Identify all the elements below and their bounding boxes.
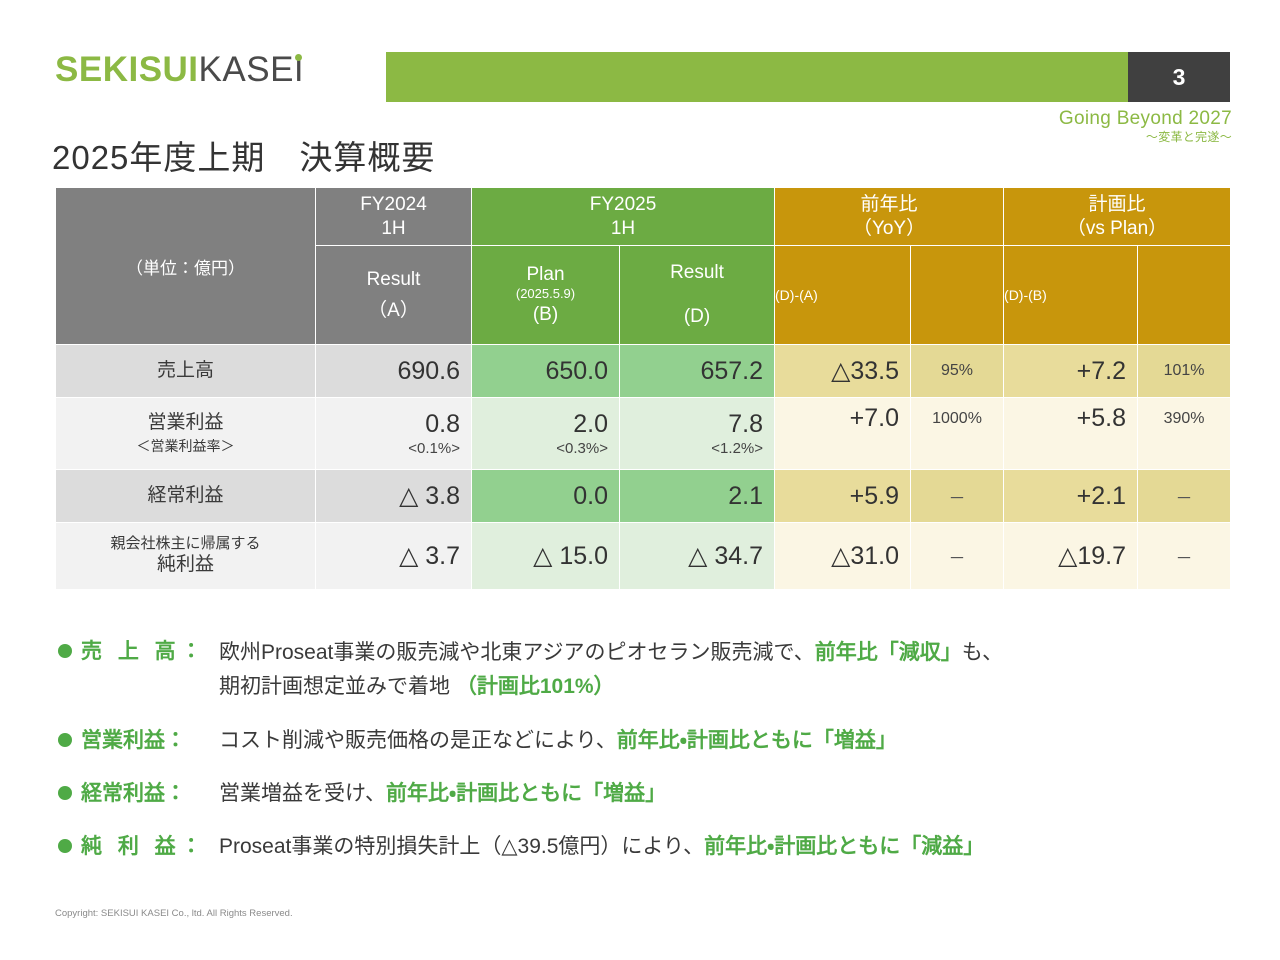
- cell-result-eigyourieki: 7.8 <1.2%>: [620, 398, 775, 470]
- cell-plan-eigyourieki-value: 2.0: [573, 410, 608, 438]
- cell-fy2024-eigyourieki-value: 0.8: [425, 410, 460, 438]
- table-row: 売上高 690.6 650.0 657.2 △33.5 95% +7.2 101…: [56, 345, 1231, 398]
- logo-secondary-text: KASEI: [199, 50, 305, 89]
- bullet-text-junrieki: Proseat事業の特別損失計上（△39.5億円）により、前年比・計画比ともに「…: [219, 831, 1248, 863]
- list-item: 経常利益： 営業増益を受け、前年比・計画比ともに「増益」: [58, 778, 1248, 810]
- page-number-badge: 3: [1128, 52, 1230, 102]
- bullet-1-line1-highlight: 前年比・計画比ともに「増益」: [617, 729, 897, 752]
- header-vsplan-pct-spacer: [1138, 246, 1231, 345]
- cell-result-uriagedaka: 657.2: [620, 345, 775, 398]
- table-row: 営業利益 ＜営業利益率＞ 0.8 <0.1%> 2.0 <0.3%> 7.8 <…: [56, 398, 1231, 470]
- bullet-text-keijourieki: 営業増益を受け、前年比・計画比ともに「増益」: [219, 778, 1248, 810]
- cell-fy2024-eigyourieki: 0.8 <0.1%>: [316, 398, 472, 470]
- company-logo: SEKISUIKASEI: [55, 50, 311, 90]
- header-fy2024-line2: 1H: [381, 218, 405, 239]
- spacer: [58, 762, 1248, 778]
- bullet-dot-icon: [58, 786, 72, 800]
- list-item: 営業利益： コスト削減や販売価格の是正などにより、前年比・計画比ともに「増益」: [58, 725, 1248, 757]
- header-fy2025-line2: 1H: [611, 218, 635, 239]
- bullet-text-uriagedaka: 欧州Proseat事業の販売減や北東アジアのピオセラン販売減で、前年比「減収」も…: [219, 636, 1248, 704]
- header-fy2025-result-code: (D): [620, 306, 774, 328]
- header-fy2024-result-label: Result: [367, 269, 421, 290]
- header-vsplan-line1: 計画比: [1089, 194, 1146, 215]
- header-fy2025-result: Result (D): [620, 246, 775, 345]
- header-vsplan-line2: （vs Plan）: [1067, 218, 1167, 239]
- copyright-notice: Copyright: SEKISUI KASEI Co., ltd. All R…: [55, 908, 293, 919]
- bullet-dot-icon: [58, 644, 72, 658]
- header-fy2025-result-label: Result: [670, 262, 724, 283]
- header-green-bar: [386, 52, 1128, 102]
- row-label-junrieki: 親会社株主に帰属する 純利益: [56, 523, 316, 590]
- list-item: 売 上 高： 欧州Proseat事業の販売減や北東アジアのピオセラン販売減で、前…: [58, 636, 1248, 704]
- cell-yoypct-junrieki: －: [911, 523, 1004, 590]
- header-fy2024-result: Result （A）: [316, 246, 472, 345]
- header-group-yoy: 前年比 （YoY）: [775, 188, 1004, 246]
- page-title: 2025年度上期 決算概要: [52, 131, 435, 179]
- cell-yoypct-uriagedaka: 95%: [911, 345, 1004, 398]
- header-vsplan-code: (D)-(B): [1004, 246, 1138, 345]
- bullet-0-line1-pre: 欧州Proseat事業の販売減や北東アジアのピオセラン販売減で、: [219, 641, 815, 664]
- spacer: [58, 709, 1248, 725]
- cell-planpct-junrieki: －: [1138, 523, 1231, 590]
- row-label-eigyourieki: 営業利益 ＜営業利益率＞: [56, 398, 316, 470]
- table-header-row-1: （単位：億円） FY2024 1H FY2025 1H 前年比 （YoY） 計画…: [56, 188, 1231, 246]
- cell-plandiff-eigyourieki: +5.8: [1004, 398, 1138, 470]
- row-label-uriagedaka: 売上高: [56, 345, 316, 398]
- cell-fy2024-junrieki: △ 3.7: [316, 523, 472, 590]
- bullet-2-line1-highlight: 前年比・計画比ともに「増益」: [386, 782, 666, 805]
- bullet-3-line1-highlight: 前年比・計画比ともに「減益」: [704, 835, 984, 858]
- bullet-label-eigyourieki: 営業利益：: [81, 725, 219, 757]
- cell-plan-uriagedaka: 650.0: [472, 345, 620, 398]
- slide-root: SEKISUIKASEI 3 Going Beyond 2027 ～変革と完遂～…: [0, 0, 1280, 960]
- row-label-keijourieki: 経常利益: [56, 470, 316, 523]
- commentary-list: 売 上 高： 欧州Proseat事業の販売減や北東アジアのピオセラン販売減で、前…: [58, 636, 1248, 868]
- header-fy2025-line1: FY2025: [590, 194, 657, 215]
- bullet-2-line1-pre: 営業増益を受け、: [219, 782, 386, 805]
- cell-result-keijourieki: 2.1: [620, 470, 775, 523]
- bullet-3-line1-pre: Proseat事業の特別損失計上（△39.5億円）により、: [219, 835, 704, 858]
- cell-result-eigyourieki-value: 7.8: [728, 410, 763, 438]
- row-label-eigyourieki-sub: ＜営業利益率＞: [56, 438, 315, 456]
- bullet-0-line1-post: も、: [962, 641, 1003, 664]
- header-yoy-line1: 前年比: [861, 194, 918, 215]
- cell-planpct-keijourieki: －: [1138, 470, 1231, 523]
- row-label-junrieki-line2: 純利益: [56, 553, 315, 578]
- bullet-0-line1-highlight: 前年比「減収」: [815, 641, 962, 664]
- cell-yoydiff-eigyourieki: +7.0: [775, 398, 911, 470]
- row-label-eigyourieki-main: 営業利益: [147, 412, 223, 433]
- header-group-fy2025: FY2025 1H: [472, 188, 775, 246]
- header-unit-cell: （単位：億円）: [56, 188, 316, 345]
- cell-plan-keijourieki: 0.0: [472, 470, 620, 523]
- header-yoy-code: (D)-(A): [775, 246, 911, 345]
- header-fy2025-plan-code: (B): [472, 304, 619, 326]
- cell-yoydiff-uriagedaka: △33.5: [775, 345, 911, 398]
- bullet-dot-icon: [58, 733, 72, 747]
- header-fy2025-plan: Plan (2025.5.9) (B): [472, 246, 620, 345]
- cell-planpct-uriagedaka: 101%: [1138, 345, 1231, 398]
- tagline-english: Going Beyond 2027: [1059, 108, 1232, 130]
- cell-yoydiff-junrieki: △31.0: [775, 523, 911, 590]
- bullet-0-line2-pre: 期初計画想定並みで着地: [219, 675, 456, 698]
- header-yoy-pct-spacer: [911, 246, 1004, 345]
- bullet-text-eigyourieki: コスト削減や販売価格の是正などにより、前年比・計画比ともに「増益」: [219, 725, 1248, 757]
- cell-yoypct-keijourieki: －: [911, 470, 1004, 523]
- bullet-1-line1-pre: コスト削減や販売価格の是正などにより、: [219, 729, 617, 752]
- table-row: 親会社株主に帰属する 純利益 △ 3.7 △ 15.0 △ 34.7 △31.0…: [56, 523, 1231, 590]
- cell-plan-eigyourieki: 2.0 <0.3%>: [472, 398, 620, 470]
- bullet-dot-icon: [58, 839, 72, 853]
- header-fy2024-code: （A）: [316, 300, 471, 322]
- tagline-block: Going Beyond 2027 ～変革と完遂～: [1059, 108, 1232, 145]
- cell-plandiff-keijourieki: +2.1: [1004, 470, 1138, 523]
- cell-fy2024-eigyourieki-rate: <0.1%>: [316, 440, 460, 457]
- cell-plandiff-uriagedaka: +7.2: [1004, 345, 1138, 398]
- spacer: [58, 815, 1248, 831]
- header-fy2025-plan-label: Plan: [526, 264, 564, 285]
- header-fy2025-plan-date: (2025.5.9): [472, 287, 619, 302]
- list-item: 純 利 益： Proseat事業の特別損失計上（△39.5億円）により、前年比・…: [58, 831, 1248, 863]
- cell-fy2024-keijourieki: △ 3.8: [316, 470, 472, 523]
- cell-planpct-eigyourieki: 390%: [1138, 398, 1231, 470]
- row-label-junrieki-line1: 親会社株主に帰属する: [56, 534, 315, 554]
- cell-yoydiff-keijourieki: +5.9: [775, 470, 911, 523]
- bullet-0-line2-highlight: （計画比101%）: [456, 675, 615, 698]
- cell-yoypct-eigyourieki: 1000%: [911, 398, 1004, 470]
- header-group-vsplan: 計画比 （vs Plan）: [1004, 188, 1231, 246]
- cell-result-eigyourieki-rate: <1.2%>: [620, 440, 763, 457]
- bullet-label-junrieki: 純 利 益：: [81, 831, 219, 863]
- cell-fy2024-uriagedaka: 690.6: [316, 345, 472, 398]
- tagline-japanese: ～変革と完遂～: [1059, 131, 1232, 145]
- bullet-label-keijourieki: 経常利益：: [81, 778, 219, 810]
- header-fy2024-line1: FY2024: [360, 194, 427, 215]
- header-group-fy2024: FY2024 1H: [316, 188, 472, 246]
- cell-plan-junrieki: △ 15.0: [472, 523, 620, 590]
- financial-summary-table: （単位：億円） FY2024 1H FY2025 1H 前年比 （YoY） 計画…: [55, 187, 1231, 590]
- cell-plandiff-junrieki: △19.7: [1004, 523, 1138, 590]
- bullet-label-uriagedaka: 売 上 高：: [81, 636, 219, 668]
- table-row: 経常利益 △ 3.8 0.0 2.1 +5.9 － +2.1 －: [56, 470, 1231, 523]
- logo-primary-text: SEKISUI: [55, 50, 199, 89]
- cell-result-junrieki: △ 34.7: [620, 523, 775, 590]
- cell-plan-eigyourieki-rate: <0.3%>: [472, 440, 608, 457]
- header-yoy-line2: （YoY）: [853, 218, 925, 239]
